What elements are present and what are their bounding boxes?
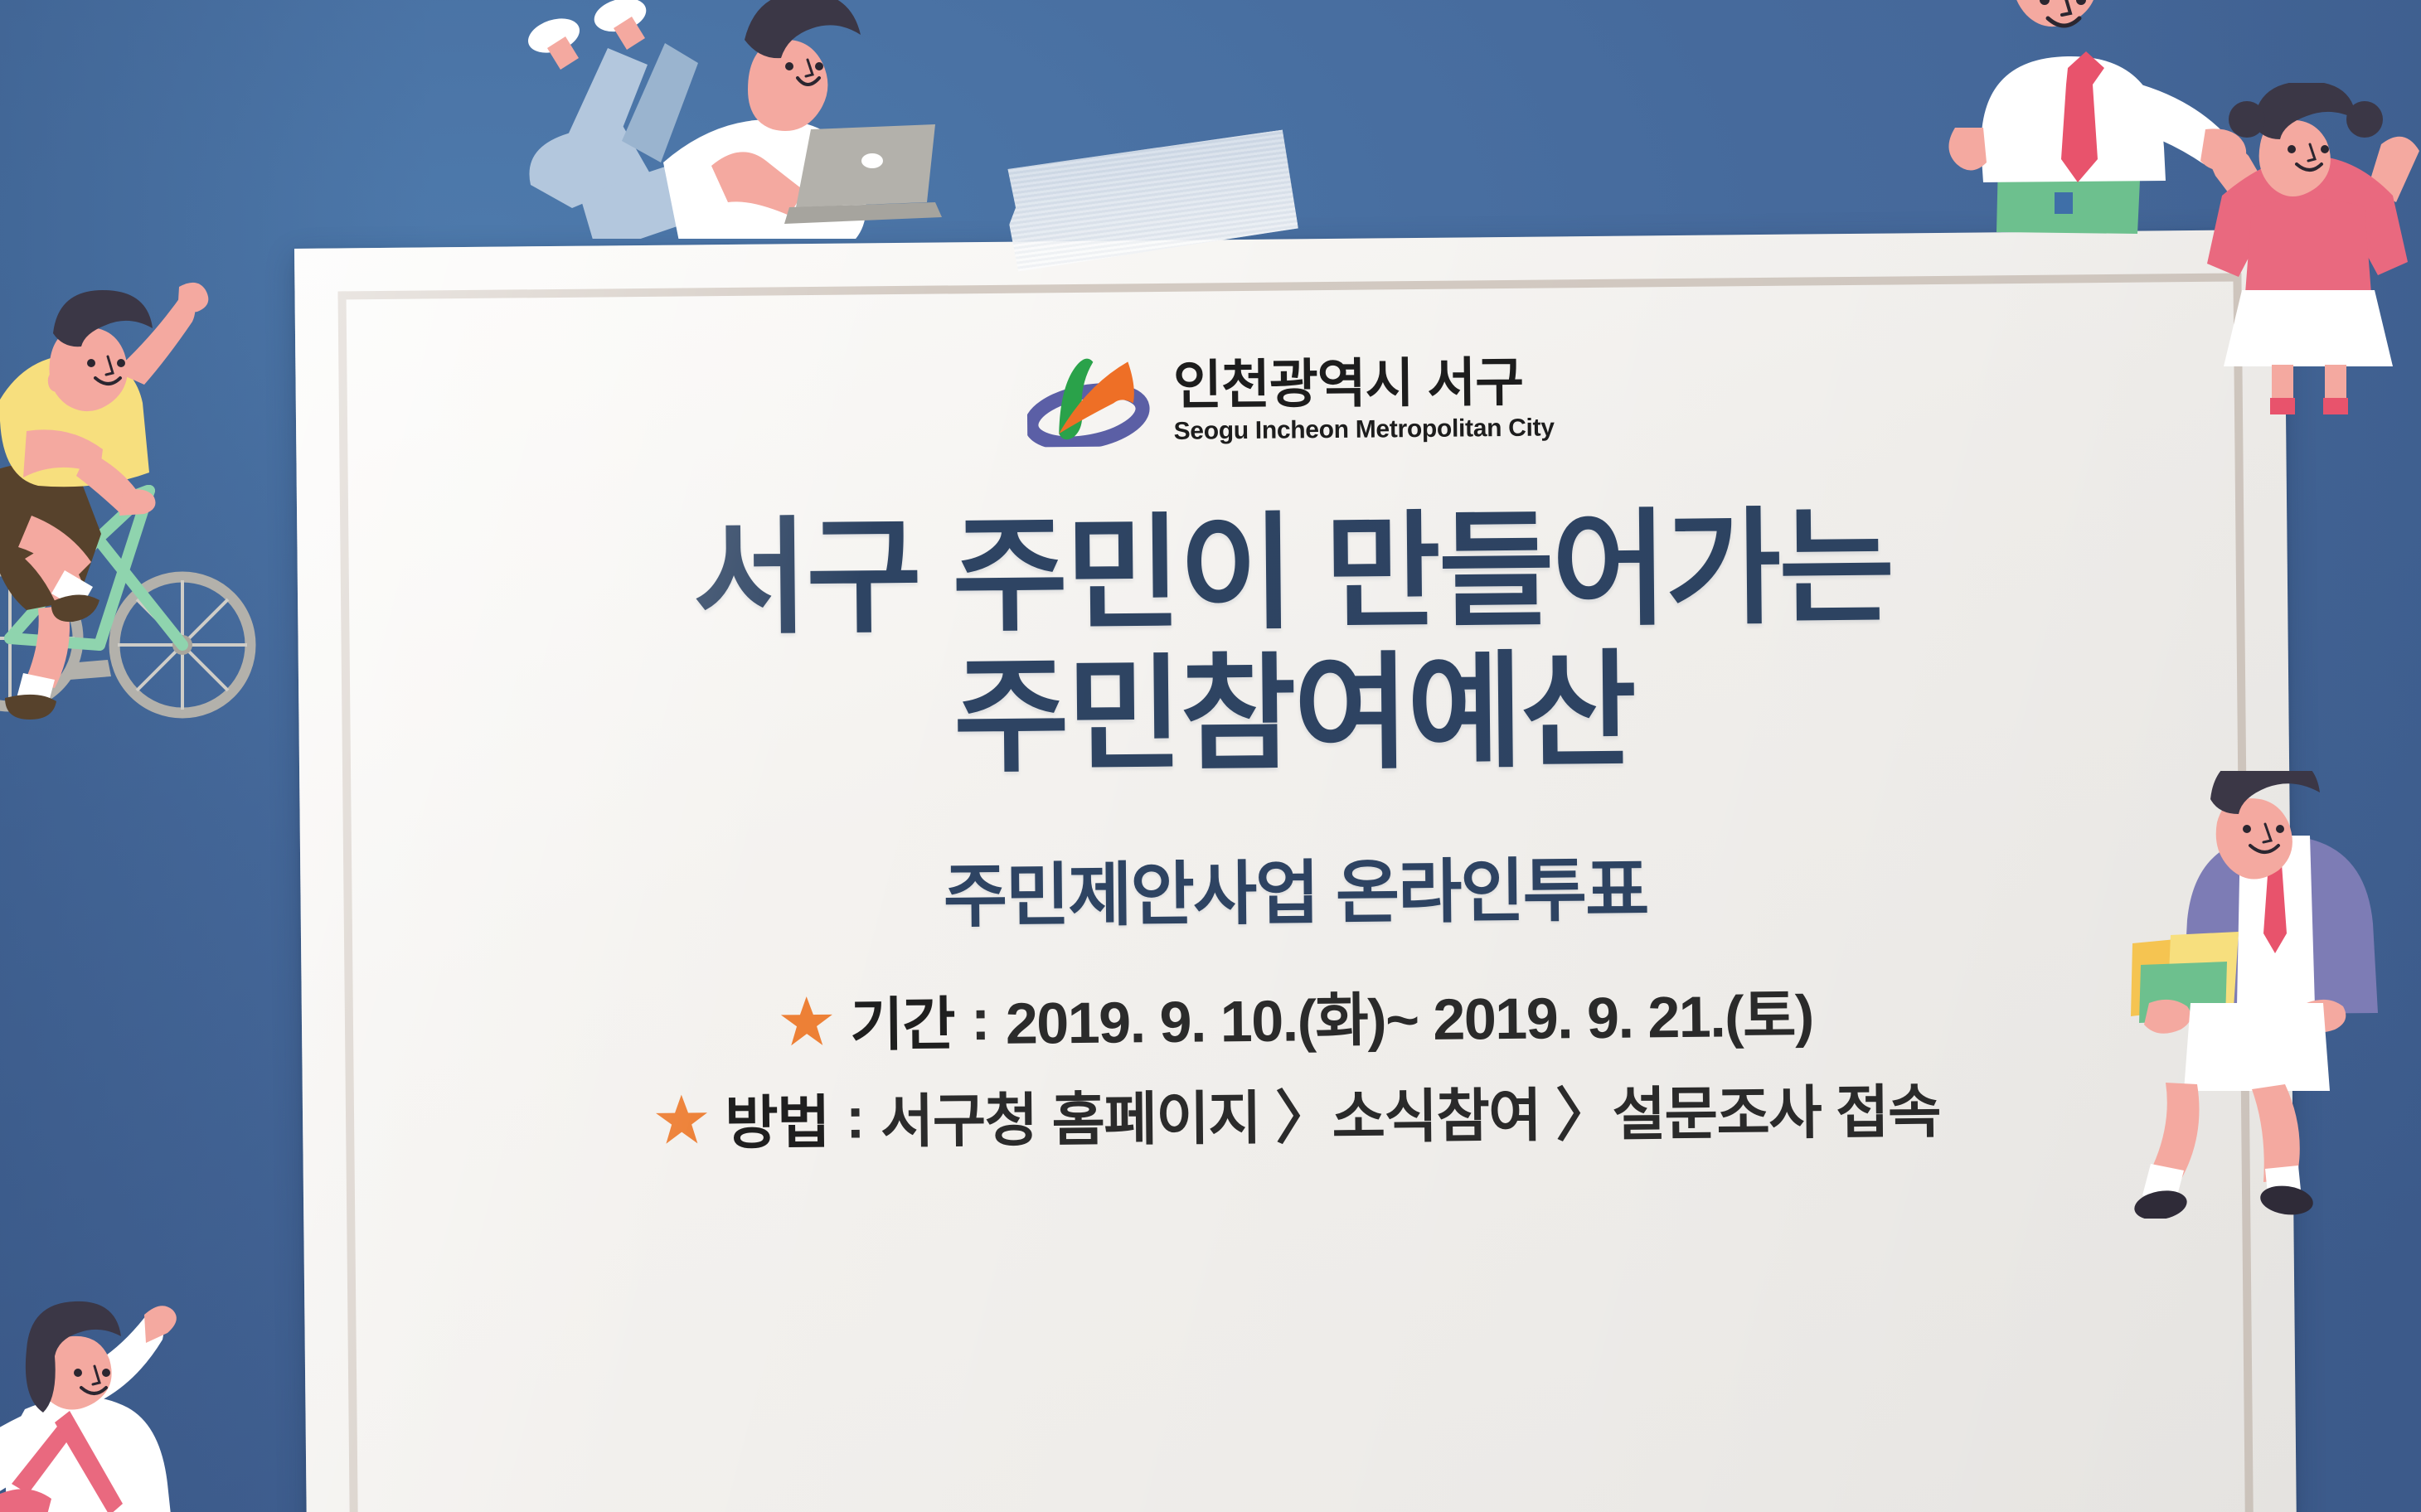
woman-waving-with-bag-illustration xyxy=(0,1277,265,1512)
info-label-period: 기간 xyxy=(850,978,955,1063)
logo-name-ko: 인천광역시 서구 xyxy=(1173,355,1555,411)
poster-board: 인천광역시 서구 Seogu Incheon Metropolitan City… xyxy=(294,230,2297,1512)
info-separator-period: : xyxy=(971,986,990,1053)
info-line-method: 방법 : 서구청 홈페이지 〉소식참여 〉설문조사 접속 xyxy=(655,1065,1941,1161)
poster-stage: 인천광역시 서구 Seogu Incheon Metropolitan City… xyxy=(0,0,2421,1512)
board-content: 인천광역시 서구 Seogu Incheon Metropolitan City… xyxy=(294,230,2297,1512)
girl-raising-arms-illustration xyxy=(2172,83,2421,414)
info-label-method: 방법 xyxy=(725,1076,830,1161)
student-with-books-illustration xyxy=(2123,771,2421,1219)
star-icon xyxy=(780,995,834,1049)
star-icon xyxy=(655,1093,709,1146)
info-line-period: 기간 : 2019. 9. 10.(화)~ 2019. 9. 21.(토) xyxy=(780,970,1813,1064)
logo-name-en: Seogu Incheon Metropolitan City xyxy=(1173,415,1554,443)
info-value-period: 2019. 9. 10.(화)~ 2019. 9. 21.(토) xyxy=(1005,970,1813,1061)
info-value-method: 서구청 홈페이지 〉소식참여 〉설문조사 접속 xyxy=(880,1065,1940,1159)
page-title: 서구 주민이 만들어가는 주민참여예산 xyxy=(692,497,1895,791)
headline-line-2: 주민참여예산 xyxy=(693,638,1894,791)
info-list: 기간 : 2019. 9. 10.(화)~ 2019. 9. 21.(토) 방법… xyxy=(654,968,1941,1161)
headline-line-1: 서구 주민이 만들어가는 xyxy=(692,497,1893,650)
seogu-logo-text: 인천광역시 서구 Seogu Incheon Metropolitan City xyxy=(1173,355,1555,443)
subtitle: 주민제안사업 온라인투표 xyxy=(943,835,1648,942)
info-separator-method: : xyxy=(846,1084,865,1151)
seogu-logo: 인천광역시 서구 Seogu Incheon Metropolitan City xyxy=(1027,352,1555,447)
man-on-bicycle-illustration xyxy=(0,274,290,729)
seogu-logo-mark xyxy=(1027,356,1152,447)
woman-with-laptop-illustration xyxy=(497,0,945,239)
